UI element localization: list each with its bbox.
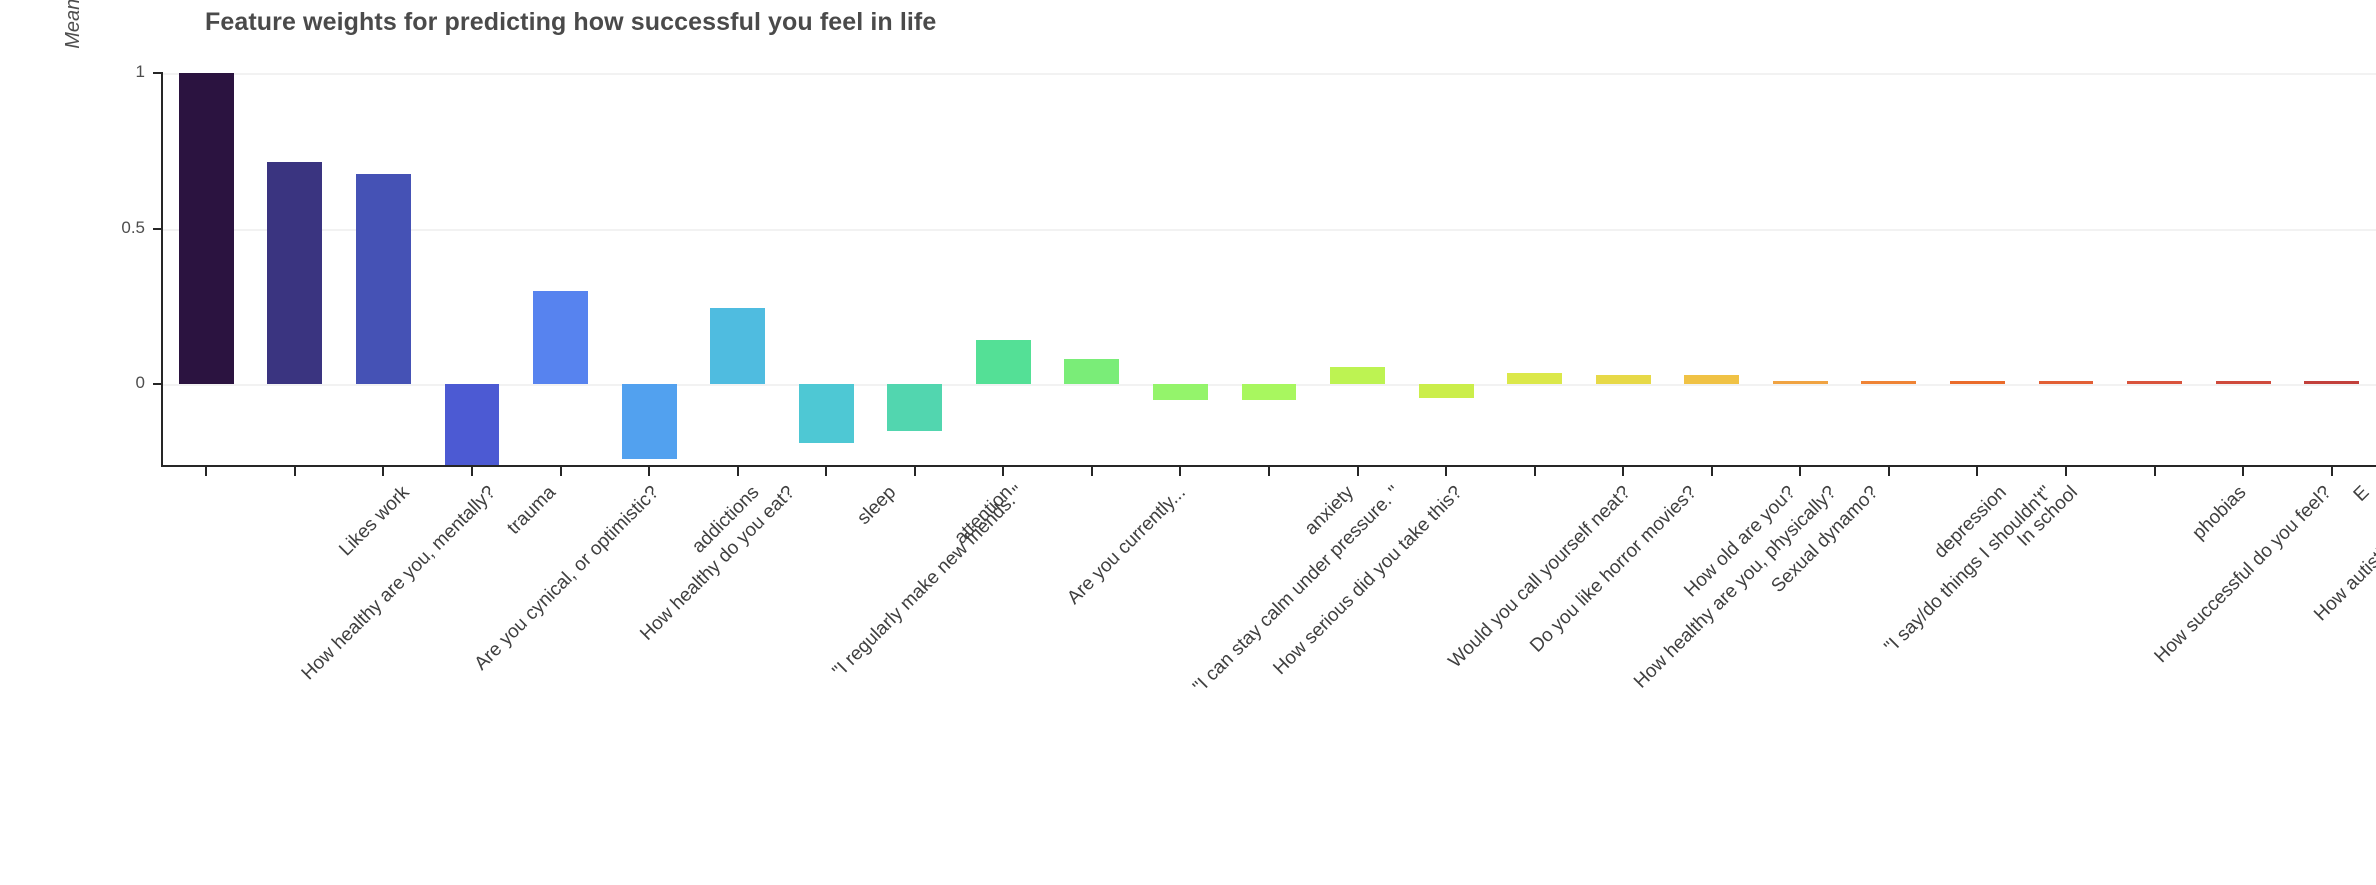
bar [267,162,322,384]
bar [799,384,854,443]
y-axis-label: Mean Weight [62,0,85,120]
bar [1684,375,1739,384]
x-tick-mark [1357,467,1359,476]
x-tick-label: Likes work [335,482,414,561]
x-tick-mark [205,467,207,476]
x-tick-mark [1799,467,1801,476]
x-tick-mark [471,467,473,476]
bar [976,340,1031,384]
y-tick-mark [153,383,163,385]
chart-title: Feature weights for predicting how succe… [205,8,936,37]
x-tick-mark [2154,467,2156,476]
bar [533,291,588,384]
x-tick-mark [560,467,562,476]
gridline [162,229,2376,231]
bar [622,384,677,459]
x-tick-mark [737,467,739,476]
x-tick-mark [1622,467,1624,476]
x-tick-label-text: trauma [503,482,560,539]
x-tick-mark [2065,467,2067,476]
y-tick-mark [153,228,163,230]
x-tick-mark [1179,467,1181,476]
x-tick-label: How successful do you feel? [2151,482,2337,668]
bar [1950,381,2005,384]
x-tick-label-text: E [2349,482,2374,507]
x-tick-mark [825,467,827,476]
bar [710,308,765,384]
x-tick-label-text: How healthy do you eat? [636,482,799,645]
y-tick-label: 0.5 [85,218,145,238]
plot-area [162,73,2376,466]
y-tick-label: 0 [85,373,145,393]
bar [1153,384,1208,400]
gridline [162,73,2376,75]
bar [1064,359,1119,384]
bar [1419,384,1474,398]
bar [1773,381,1828,384]
x-tick-mark [1268,467,1270,476]
bar [1242,384,1297,400]
x-tick-label: sleep [853,482,901,530]
bar [2039,381,2094,384]
x-tick-label: trauma [503,482,560,539]
x-tick-mark [2331,467,2333,476]
x-tick-mark [1091,467,1093,476]
x-tick-mark [914,467,916,476]
bar [1861,381,1916,384]
x-tick-mark [294,467,296,476]
x-tick-mark [648,467,650,476]
x-tick-label-text: Likes work [335,482,414,561]
bar [1596,375,1651,384]
x-tick-mark [1976,467,1978,476]
x-tick-label: Are you cynical, or optimistic? [471,482,664,675]
bar [1507,373,1562,384]
y-axis-spine [161,73,163,466]
x-tick-mark [1445,467,1447,476]
x-tick-label-text: Are you currently... [1064,482,1191,609]
x-tick-mark [1711,467,1713,476]
bar [179,73,234,384]
x-tick-mark [1534,467,1536,476]
x-tick-label: E [2349,482,2374,507]
x-tick-label-text: How successful do you feel? [2151,482,2337,668]
x-tick-mark [2242,467,2244,476]
y-tick-mark [153,72,163,74]
bar [2216,381,2271,384]
bar [2127,381,2182,384]
bar [1330,367,1385,384]
bar [445,384,500,466]
bar [887,384,942,431]
bar [356,174,411,384]
x-tick-label-text: Are you cynical, or optimistic? [471,482,664,675]
x-tick-label-text: sleep [853,482,901,530]
x-tick-label: phobias [2188,482,2251,545]
x-tick-label: Are you currently... [1064,482,1191,609]
x-tick-mark [1888,467,1890,476]
bar [2304,381,2359,384]
x-tick-label: How healthy do you eat? [636,482,799,645]
x-tick-mark [1002,467,1004,476]
y-tick-label: 1 [85,62,145,82]
x-tick-label-text: phobias [2188,482,2251,545]
chart-figure: Feature weights for predicting how succe… [0,0,2376,885]
x-tick-mark [382,467,384,476]
